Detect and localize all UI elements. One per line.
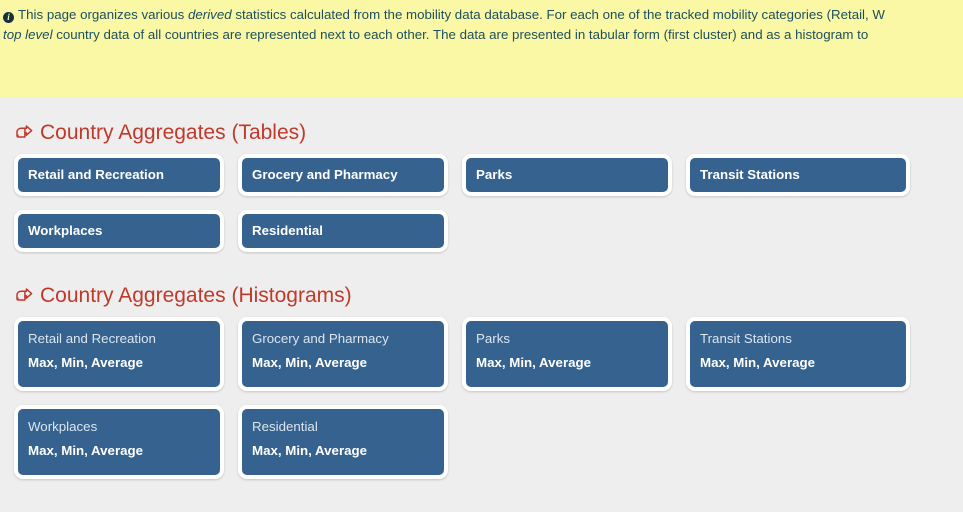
section-heading-histograms: Country Aggregates (Histograms) [14,284,352,308]
section-heading-tables-label: Country Aggregates (Tables) [40,121,306,145]
card-subtitle: Max, Min, Average [28,354,210,372]
card-subtitle: Max, Min, Average [252,442,434,460]
section-heading-tables: Country Aggregates (Tables) [14,121,306,145]
histogram-card-parks[interactable]: Parks Max, Min, Average [462,317,672,391]
card-slot: Parks Max, Min, Average [462,317,686,405]
card-subtitle: Max, Min, Average [700,354,896,372]
table-card-transit-stations[interactable]: Transit Stations [686,154,910,196]
table-card-parks[interactable]: Parks [462,154,672,196]
card-slot: Grocery and Pharmacy Max, Min, Average [238,317,462,405]
main-content: Country Aggregates (Tables) Retail and R… [0,97,963,512]
card-title: Retail and Recreation [28,167,164,183]
card-title: Residential [252,418,434,436]
info-line1-post: statistics calculated from the mobility … [232,7,885,22]
card-slot: Workplaces [14,210,238,266]
histogram-card-workplaces[interactable]: Workplaces Max, Min, Average [14,405,224,479]
section-heading-histograms-label: Country Aggregates (Histograms) [40,284,352,308]
card-title: Grocery and Pharmacy [252,167,398,183]
card-title: Workplaces [28,418,210,436]
hand-point-right-icon [14,286,34,306]
card-slot: Transit Stations Max, Min, Average [686,317,910,405]
info-banner-line-2: top level country data of all countries … [0,25,963,45]
card-title: Residential [252,223,323,239]
info-line2-post: country data of all countries are repres… [53,27,869,42]
table-card-workplaces[interactable]: Workplaces [14,210,224,252]
card-slot: Retail and Recreation [14,154,238,210]
card-title: Transit Stations [700,167,800,183]
info-banner-line-1: iThis page organizes various derived sta… [0,5,963,25]
info-circle-icon: i [3,12,14,23]
histogram-card-retail-and-recreation[interactable]: Retail and Recreation Max, Min, Average [14,317,224,391]
card-title: Parks [476,330,658,348]
card-subtitle: Max, Min, Average [252,354,434,372]
table-card-retail-and-recreation[interactable]: Retail and Recreation [14,154,224,196]
card-title: Retail and Recreation [28,330,210,348]
table-card-residential[interactable]: Residential [238,210,448,252]
card-slot: Retail and Recreation Max, Min, Average [14,317,238,405]
tables-card-grid: Retail and Recreation Grocery and Pharma… [14,154,914,266]
histogram-card-transit-stations[interactable]: Transit Stations Max, Min, Average [686,317,910,391]
card-title: Parks [476,167,512,183]
page-root: iThis page organizes various derived sta… [0,0,963,526]
info-line1-emphasis: derived [188,7,232,22]
card-slot: Parks [462,154,686,210]
card-slot: Workplaces Max, Min, Average [14,405,238,493]
card-slot: Residential [238,210,462,266]
hand-point-right-icon [14,123,34,143]
card-title: Grocery and Pharmacy [252,330,434,348]
histogram-card-grocery-and-pharmacy[interactable]: Grocery and Pharmacy Max, Min, Average [238,317,448,391]
card-title: Workplaces [28,223,102,239]
histogram-card-residential[interactable]: Residential Max, Min, Average [238,405,448,479]
card-slot: Grocery and Pharmacy [238,154,462,210]
table-card-grocery-and-pharmacy[interactable]: Grocery and Pharmacy [238,154,448,196]
card-subtitle: Max, Min, Average [476,354,658,372]
card-slot: Transit Stations [686,154,910,210]
info-line1-pre: This page organizes various [18,7,188,22]
card-slot: Residential Max, Min, Average [238,405,462,493]
info-line2-emphasis: top level [3,27,53,42]
card-title: Transit Stations [700,330,896,348]
info-banner: iThis page organizes various derived sta… [0,0,963,97]
histograms-card-grid: Retail and Recreation Max, Min, Average … [14,317,914,493]
card-subtitle: Max, Min, Average [28,442,210,460]
